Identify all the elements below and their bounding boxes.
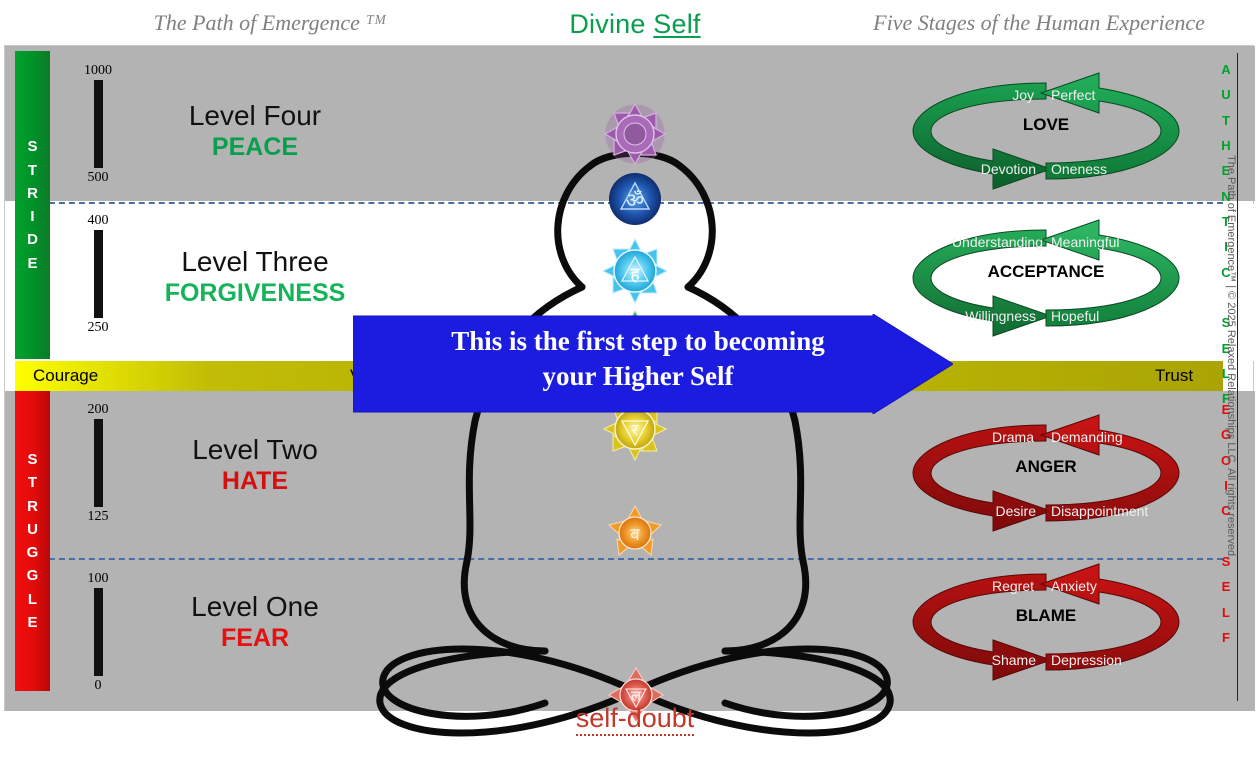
- level-divider-upper: [19, 202, 1223, 204]
- banner-line-2: your Higher Self: [363, 359, 913, 394]
- header-left-title: The Path of Emergence ᵀᴹ: [0, 0, 540, 45]
- first-step-banner: This is the first step to becoming your …: [353, 314, 953, 414]
- cycle-label: Meaningful: [1051, 234, 1120, 250]
- self-word: Self: [653, 9, 700, 39]
- cycle-label: Devotion: [981, 161, 1036, 177]
- divine-word: Divine: [569, 9, 653, 39]
- level-one-title: Level One FEAR: [105, 591, 405, 653]
- cycle-center-label: ANGER: [901, 457, 1191, 477]
- cycle-label: Drama: [992, 429, 1034, 445]
- bridge-label-courage: Courage: [33, 366, 98, 386]
- cycle-center-label: LOVE: [901, 115, 1191, 135]
- stage-bar-struggle: STRUGGLE: [15, 391, 50, 691]
- bridge-label-trust: Trust: [1155, 366, 1193, 386]
- scale-bottom-value: 0: [95, 678, 102, 693]
- path-of-emergence-diagram: The Path of Emergence ᵀᴹ Divine Self Fiv…: [0, 0, 1258, 714]
- cycle-center-label: ACCEPTANCE: [901, 262, 1191, 282]
- cycle-label: Depression: [1051, 652, 1122, 668]
- cycle-center-label: BLAME: [901, 606, 1191, 626]
- cycle-label: Hopeful: [1051, 308, 1099, 324]
- cycle-blame: Regret Anxiety Shame Depression BLAME: [901, 562, 1191, 682]
- cycle-label: Willingness: [965, 308, 1036, 324]
- cycle-anger: Drama Demanding Desire Disappointment AN…: [901, 413, 1191, 533]
- cycle-label: Joy: [1012, 87, 1034, 103]
- cycle-label: Disappointment: [1051, 503, 1148, 519]
- scale-top-value: 200: [88, 402, 109, 417]
- cycle-label: Perfect: [1051, 87, 1095, 103]
- copyright-notice: The Path of Emergence™ | © 2025 Relaxed …: [1219, 155, 1237, 625]
- diagram-title: The Path of Emergence ᵀᴹ: [154, 10, 387, 36]
- self-type-column: AUTHENTIC SELF EGOIC SELF The Path of Em…: [1207, 45, 1254, 711]
- cycle-label: Desire: [996, 503, 1036, 519]
- diagram-frame: ॐ ह: [4, 45, 1254, 711]
- cycle-label: Regret: [992, 578, 1034, 594]
- scale-top-value: 1000: [84, 63, 112, 78]
- scale-top-value: 400: [88, 213, 109, 228]
- cycle-label: Shame: [992, 652, 1036, 668]
- divine-self-title: Divine Self: [520, 4, 750, 44]
- cycle-label: Demanding: [1051, 429, 1123, 445]
- scale-bottom-value: 500: [88, 170, 109, 185]
- cycle-label: Oneness: [1051, 161, 1107, 177]
- banner-text: This is the first step to becoming your …: [363, 324, 913, 394]
- cycle-label: Understanding: [952, 234, 1043, 250]
- level-divider-lower: [19, 558, 1223, 560]
- stage-bar-stride: STRIDE: [15, 51, 50, 359]
- level-two-title: Level Two HATE: [105, 434, 405, 496]
- level-three-title: Level Three FORGIVENESS: [105, 246, 405, 308]
- cycle-love: Joy Perfect Devotion Oneness LOVE: [901, 71, 1191, 191]
- cycle-label: Anxiety: [1051, 578, 1097, 594]
- five-stages-title: Five Stages of the Human Experience: [873, 10, 1205, 36]
- scale-top-value: 100: [88, 571, 109, 586]
- header-right-title: Five Stages of the Human Experience: [820, 0, 1258, 45]
- column-divider: [1237, 53, 1238, 701]
- scale-bottom-value: 125: [88, 509, 109, 524]
- banner-line-1: This is the first step to becoming: [363, 324, 913, 359]
- scale-bottom-value: 250: [88, 320, 109, 335]
- level-four-title: Level Four PEACE: [105, 100, 405, 162]
